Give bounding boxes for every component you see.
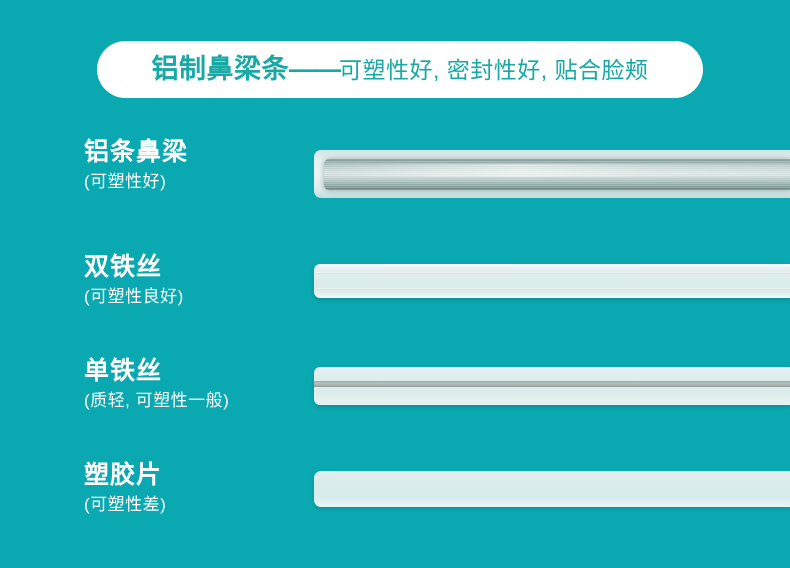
aluminium-bar-graphic: [324, 159, 790, 190]
header-subtitle: 可塑性好, 密封性好, 贴合脸颊: [339, 57, 649, 83]
product-feature-panel: 铝制鼻梁条——可塑性好, 密封性好, 贴合脸颊 铝条鼻梁 (可塑性好) 双铁丝 …: [0, 0, 790, 568]
row-label-group-4: 塑胶片 (可塑性差): [84, 461, 319, 515]
row-subtitle-2: (可塑性良好): [84, 287, 319, 307]
header-text: 铝制鼻梁条——可塑性好, 密封性好, 贴合脸颊: [151, 56, 648, 83]
plastic-sheet-strip-graphic: [314, 471, 790, 507]
row-title-4: 塑胶片: [84, 461, 319, 490]
row-subtitle-3: (质轻, 可塑性一般): [84, 391, 319, 411]
double-wire-line-bottom: [316, 288, 790, 290]
row-subtitle-1: (可塑性好): [84, 172, 319, 192]
double-wire-line-top: [316, 272, 790, 274]
row-subtitle-4: (可塑性差): [84, 495, 319, 515]
double-wire-strip-graphic: [314, 264, 790, 298]
row-label-group-2: 双铁丝 (可塑性良好): [84, 253, 319, 307]
row-title-3: 单铁丝: [84, 357, 319, 386]
row-title-1: 铝条鼻梁: [84, 138, 319, 167]
row-label-group-1: 铝条鼻梁 (可塑性好): [84, 138, 319, 192]
row-label-group-3: 单铁丝 (质轻, 可塑性一般): [84, 357, 319, 411]
header-title: 铝制鼻梁条: [151, 54, 289, 84]
row-title-2: 双铁丝: [84, 253, 319, 282]
header-dash: ——: [289, 54, 339, 84]
single-wire-line: [314, 381, 790, 387]
header-banner: 铝制鼻梁条——可塑性好, 密封性好, 贴合脸颊: [97, 41, 703, 98]
